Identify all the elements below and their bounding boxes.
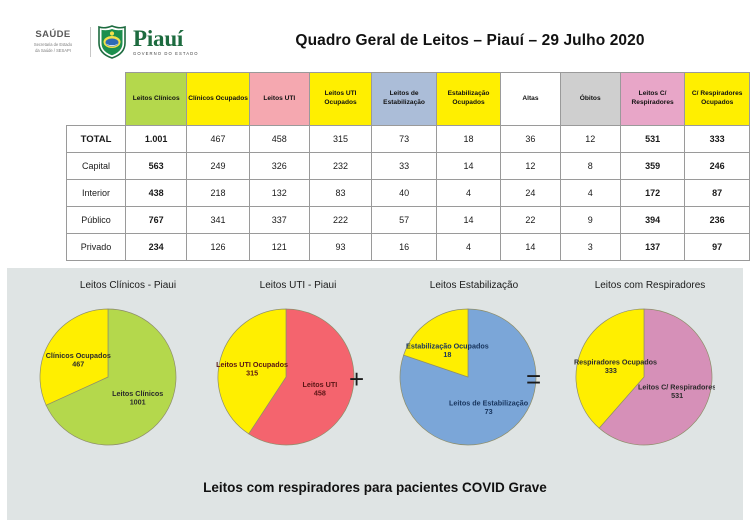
table-cell-r2-c5: 4 <box>436 180 500 207</box>
table-cell-r4-c8: 137 <box>620 234 685 261</box>
table-cell-r3-c1: 341 <box>187 207 250 234</box>
table-row: Público7673413372225714229394236 <box>67 207 750 234</box>
row-label-1: Capital <box>67 153 126 180</box>
table-cell-r3-c9: 236 <box>685 207 750 234</box>
table-cell-r2-c0: 438 <box>126 180 187 207</box>
table-cell-r4-c9: 97 <box>685 234 750 261</box>
state-subtitle: GOVERNO DO ESTADO <box>133 52 199 56</box>
chart-operator-0: + <box>349 364 364 395</box>
table-header-cell-0: Leitos Clínicos <box>126 73 187 126</box>
svg-text:73: 73 <box>485 407 493 416</box>
table-cell-r4-c7: 3 <box>560 234 620 261</box>
table-cell-r1-c8: 359 <box>620 153 685 180</box>
svg-text:458: 458 <box>314 389 326 398</box>
table-cell-r2-c2: 132 <box>249 180 309 207</box>
table-cell-r4-c2: 121 <box>249 234 309 261</box>
table-cell-r0-c6: 36 <box>501 126 560 153</box>
state-name: Piauí <box>133 27 199 50</box>
table-cell-r3-c4: 57 <box>372 207 436 234</box>
table-cell-r3-c7: 9 <box>560 207 620 234</box>
row-label-3: Público <box>67 207 126 234</box>
table-cell-r4-c0: 234 <box>126 234 187 261</box>
table-cell-r0-c0: 1.001 <box>126 126 187 153</box>
chart-title-1: Leitos UTI - Piaui <box>203 280 393 291</box>
table-cell-r1-c3: 232 <box>309 153 372 180</box>
table-header-cell-7: Óbitos <box>560 73 620 126</box>
svg-text:531: 531 <box>671 391 683 400</box>
pie-chart-2[interactable]: Leitos de Estabilização73Estabilização O… <box>397 306 539 448</box>
saude-subtitle: Secretaria de Estado da Saúde / SESAPI <box>34 42 72 54</box>
table-header-cell-9: C/ Respiradores Ocupados <box>685 73 750 126</box>
table-header-cell-6: Altas <box>501 73 560 126</box>
table-header-cell-2: Leitos UTI <box>249 73 309 126</box>
table-cell-r2-c7: 4 <box>560 180 620 207</box>
table-cell-r3-c5: 14 <box>436 207 500 234</box>
chart-operator-1: = <box>526 364 541 395</box>
table-cell-r3-c0: 767 <box>126 207 187 234</box>
charts-caption: Leitos com respiradores para pacientes C… <box>7 480 743 495</box>
table-cell-r4-c6: 14 <box>501 234 560 261</box>
table-header-cell-8: Leitos C/ Respiradores <box>620 73 685 126</box>
table-header-cell-4: Leitos de Estabilização <box>372 73 436 126</box>
table-cell-r2-c9: 87 <box>685 180 750 207</box>
chart-title-2: Leitos Estabilização <box>379 280 569 291</box>
row-label-0: TOTAL <box>67 126 126 153</box>
table-cell-r4-c5: 4 <box>436 234 500 261</box>
table-cell-r3-c8: 394 <box>620 207 685 234</box>
svg-text:1001: 1001 <box>130 398 146 407</box>
table-cell-r0-c9: 333 <box>685 126 750 153</box>
beds-table-container: Leitos ClínicosClínicos OcupadosLeitos U… <box>0 72 750 262</box>
table-cell-r1-c5: 14 <box>436 153 500 180</box>
table-cell-r1-c4: 33 <box>372 153 436 180</box>
pie-chart-0[interactable]: Leitos Clínicos1001Clínicos Ocupados467 <box>37 306 179 448</box>
logo-divider <box>90 27 91 57</box>
table-cell-r1-c6: 12 <box>501 153 560 180</box>
piaui-logo-text: Piauí GOVERNO DO ESTADO <box>133 27 199 56</box>
row-label-4: Privado <box>67 234 126 261</box>
table-cell-r0-c4: 73 <box>372 126 436 153</box>
table-header-row: Leitos ClínicosClínicos OcupadosLeitos U… <box>67 73 750 126</box>
table-cell-r1-c1: 249 <box>187 153 250 180</box>
table-cell-r2-c8: 172 <box>620 180 685 207</box>
table-body: TOTAL1.00146745831573183612531333Capital… <box>67 126 750 261</box>
table-row: Privado2341261219316414313797 <box>67 234 750 261</box>
table-cell-r0-c1: 467 <box>187 126 250 153</box>
table-cell-r2-c6: 24 <box>501 180 560 207</box>
table-cell-r0-c5: 18 <box>436 126 500 153</box>
row-label-2: Interior <box>67 180 126 207</box>
svg-text:18: 18 <box>443 350 451 359</box>
saude-title: SAÚDE <box>35 30 70 40</box>
table-header-cell-3: Leitos UTI Ocupados <box>309 73 372 126</box>
table-cell-r1-c2: 326 <box>249 153 309 180</box>
pie-chart-3[interactable]: Leitos C/ Respiradores531C/ Respiradores… <box>573 306 715 448</box>
chart-title-3: Leitos com Respiradores <box>555 280 745 291</box>
table-row: Capital5632493262323314128359246 <box>67 153 750 180</box>
table-cell-r4-c4: 16 <box>372 234 436 261</box>
beds-table: Leitos ClínicosClínicos OcupadosLeitos U… <box>66 72 750 261</box>
table-cell-r1-c0: 563 <box>126 153 187 180</box>
table-cell-r4-c3: 93 <box>309 234 372 261</box>
page-title: Quadro Geral de Leitos – Piauí – 29 Julh… <box>230 32 710 50</box>
pie-chart-1[interactable]: Leitos UTI458Leitos UTI Ocupados315 <box>215 306 357 448</box>
saude-logo-text: SAÚDE Secretaria de Estado da Saúde / SE… <box>22 30 84 53</box>
page-header: SAÚDE Secretaria de Estado da Saúde / SE… <box>0 0 750 68</box>
table-cell-r2-c4: 40 <box>372 180 436 207</box>
svg-text:315: 315 <box>246 368 258 377</box>
table-cell-r4-c1: 126 <box>187 234 250 261</box>
svg-text:333: 333 <box>605 366 617 375</box>
table-cell-r3-c6: 22 <box>501 207 560 234</box>
table-cell-r0-c2: 458 <box>249 126 309 153</box>
svg-text:467: 467 <box>72 359 84 368</box>
charts-panel: Leitos Clínicos - PiauiLeitos Clínicos10… <box>7 268 743 520</box>
chart-title-0: Leitos Clínicos - Piaui <box>23 280 233 291</box>
table-corner-cell <box>67 73 126 126</box>
table-cell-r0-c3: 315 <box>309 126 372 153</box>
table-cell-r3-c2: 337 <box>249 207 309 234</box>
table-header-cell-5: Estabilização Ocupados <box>436 73 500 126</box>
table-cell-r1-c7: 8 <box>560 153 620 180</box>
table-cell-r2-c3: 83 <box>309 180 372 207</box>
table-cell-r0-c7: 12 <box>560 126 620 153</box>
table-cell-r0-c8: 531 <box>620 126 685 153</box>
table-row: TOTAL1.00146745831573183612531333 <box>67 126 750 153</box>
table-row: Interior4382181328340424417287 <box>67 180 750 207</box>
table-header-cell-1: Clínicos Ocupados <box>187 73 250 126</box>
table-cell-r2-c1: 218 <box>187 180 250 207</box>
table-cell-r1-c9: 246 <box>685 153 750 180</box>
table-cell-r3-c3: 222 <box>309 207 372 234</box>
piaui-coat-of-arms-icon <box>97 25 127 59</box>
government-logo: SAÚDE Secretaria de Estado da Saúde / SE… <box>22 24 200 60</box>
